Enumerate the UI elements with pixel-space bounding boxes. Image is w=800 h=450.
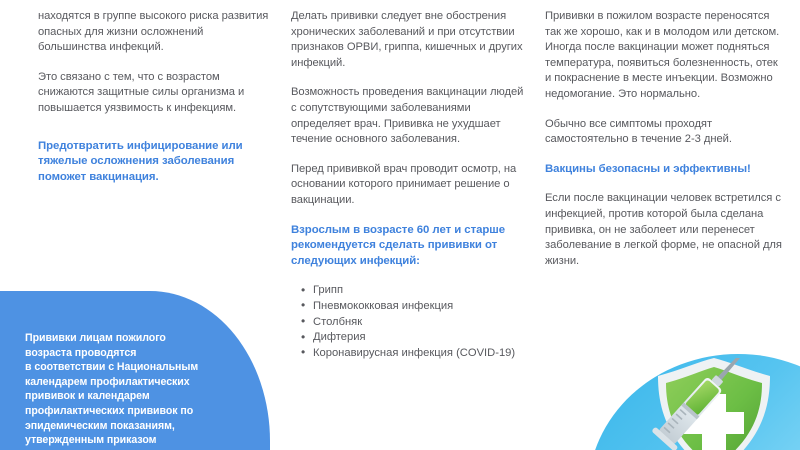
middle-paragraph-1: Делать прививки следует вне обострения х… (291, 9, 526, 71)
left-paragraph-1: находятся в группе высокого риска развит… (38, 9, 270, 56)
panel-line: Прививки лицам пожилого (25, 331, 273, 346)
column-right: Прививки в пожилом возрасте переносятся … (545, 0, 785, 283)
list-item: Коронавирусная инфекция (COVID-19) (313, 346, 526, 362)
panel-line: возраста проводятся (25, 346, 273, 361)
middle-paragraph-2: Возможность проведения вакцинации людей … (291, 85, 526, 147)
infection-list: Грипп Пневмококковая инфекция Столбняк Д… (291, 283, 526, 361)
left-paragraph-2: Это связано с тем, что с возрастом снижа… (38, 70, 270, 117)
column-middle: Делать прививки следует вне обострения х… (291, 0, 526, 361)
left-heading: Предотвратить инфицирование или тяжелые … (38, 139, 270, 186)
list-item: Столбняк (313, 315, 526, 331)
middle-heading: Взрослым в возрасте 60 лет и старше реко… (291, 223, 526, 270)
shield-syringe-graphic (636, 358, 800, 450)
list-item: Пневмококковая инфекция (313, 299, 526, 315)
panel-line: календарем профилактических (25, 375, 273, 390)
list-item: Грипп (313, 283, 526, 299)
panel-line: прививок и календарем (25, 389, 273, 404)
right-closing-paragraph: Если после вакцинации человек встретился… (545, 191, 785, 269)
middle-paragraph-3: Перед прививкой врач проводит осмотр, на… (291, 162, 526, 209)
panel-line: в соответствии с Национальным (25, 360, 273, 375)
panel-line: профилактических прививок по (25, 404, 273, 419)
right-paragraph-1: Прививки в пожилом возрасте переносятся … (545, 9, 785, 103)
right-heading: Вакцины безопасны и эффективны! (545, 162, 785, 178)
brochure-page: находятся в группе высокого риска развит… (0, 0, 800, 450)
column-left: находятся в группе высокого риска развит… (38, 0, 270, 199)
blue-panel-text: Прививки лицам пожилого возраста проводя… (25, 331, 273, 450)
list-item: Дифтерия (313, 330, 526, 346)
vaccination-illustration (636, 358, 800, 450)
panel-line: эпидемическим показаниям, (25, 419, 273, 434)
right-paragraph-2: Обычно все симптомы проходят самостоятел… (545, 117, 785, 148)
panel-line: утвержденным приказом (25, 433, 273, 448)
